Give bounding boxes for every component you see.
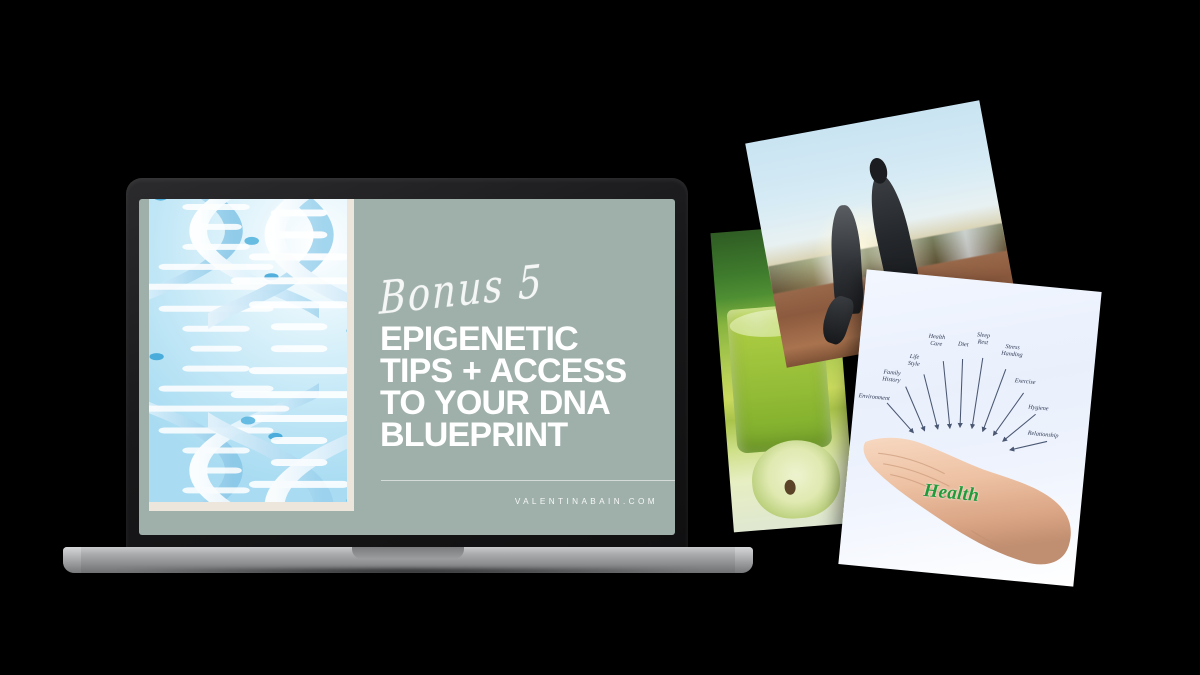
slide-eyebrow: Bonus 5 <box>379 255 544 325</box>
scene-root: Bonus 5 EPIGENETIC TIPS + ACCESS TO YOUR… <box>0 0 1200 675</box>
label-health-care: Health Care <box>928 334 946 349</box>
laptop-base <box>63 547 753 573</box>
slide-title: EPIGENETIC TIPS + ACCESS TO YOUR DNA BLU… <box>380 324 663 452</box>
dna-strand-right <box>208 199 347 502</box>
laptop-display-bezel: Bonus 5 EPIGENETIC TIPS + ACCESS TO YOUR… <box>139 199 675 535</box>
label-hygiene-text: Hygiene <box>1028 405 1049 413</box>
label-diet: Diet <box>958 341 969 349</box>
slide-website-url: VALENTINABAIN.COM <box>515 497 658 506</box>
laptop-mockup: Bonus 5 EPIGENETIC TIPS + ACCESS TO YOUR… <box>0 0 780 620</box>
dna-double-helix-icon <box>149 199 347 502</box>
label-diet-text: Diet <box>958 341 969 348</box>
health-diagram-card: Environment Family History Life Style He… <box>838 269 1101 586</box>
slide-image-frame <box>149 199 354 511</box>
laptop-base-right-cap <box>735 547 753 573</box>
slide-divider <box>381 480 675 481</box>
slide-text-block: Bonus 5 EPIGENETIC TIPS + ACCESS TO YOUR… <box>367 199 667 535</box>
slide-title-line-4: BLUEPRINT <box>380 420 663 452</box>
label-family-history: Family History <box>882 369 902 384</box>
label-exercise-text: Exercise <box>1014 378 1035 386</box>
label-rest-text: Rest <box>976 339 990 347</box>
label-stress-handing: Stress Handing <box>1001 344 1024 360</box>
laptop-base-left-cap <box>63 547 81 573</box>
label-health-care-2-text: Care <box>928 340 945 348</box>
label-life-style: Life Style <box>908 354 921 369</box>
laptop-lid: Bonus 5 EPIGENETIC TIPS + ACCESS TO YOUR… <box>126 178 688 552</box>
label-style-text: Style <box>908 361 920 369</box>
laptop-base-notch <box>352 547 464 559</box>
presentation-slide: Bonus 5 EPIGENETIC TIPS + ACCESS TO YOUR… <box>139 199 675 535</box>
label-sleep-rest: Sleep Rest <box>976 332 990 347</box>
